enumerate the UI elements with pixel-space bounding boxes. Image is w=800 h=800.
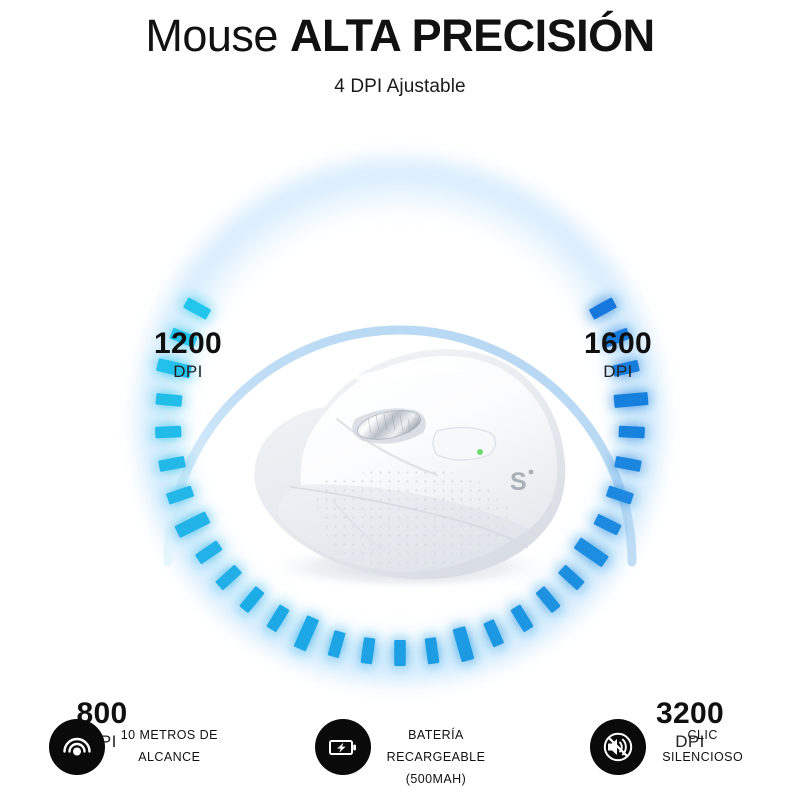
feature-range: 10 METROS DE ALCANCE	[0, 705, 267, 775]
dial-tick	[535, 586, 560, 613]
dial-tick	[425, 637, 440, 664]
page-title: Mouse ALTA PRECISIÓN	[0, 8, 800, 64]
dpi-label-1200: 1200 DPI	[118, 328, 258, 382]
page-header: Mouse ALTA PRECISIÓN 4 DPI Ajustable	[0, 0, 800, 98]
dial-tick	[239, 586, 264, 613]
dial-tick	[158, 456, 186, 472]
feature-line: RECARGEABLE	[387, 746, 486, 768]
wireless-signal-icon	[49, 719, 105, 775]
page-title-light: Mouse	[145, 10, 290, 61]
dial-tick	[510, 604, 533, 632]
dial-tick	[327, 630, 345, 658]
dpi-unit: DPI	[548, 362, 688, 382]
feature-line: SILENCIOSO	[662, 746, 743, 768]
feature-range-label: 10 METROS DE ALCANCE	[121, 719, 218, 768]
mute-speaker-icon	[590, 719, 646, 775]
dial-tick	[618, 426, 645, 439]
dial-tick	[360, 637, 375, 664]
brand-logo: S	[510, 468, 527, 496]
feature-battery-label: BATERÍA RECARGEABLE (500MAH)	[387, 719, 486, 790]
dial-tick	[614, 456, 642, 472]
feature-line: ALCANCE	[121, 746, 218, 768]
dpi-dial: S 1200 DPI 1600 DPI 800 DPI 3200 DPI	[0, 130, 800, 670]
feature-line: CLIC	[662, 724, 743, 746]
page-title-bold: ALTA PRECISIÓN	[290, 10, 655, 61]
dial-tick	[266, 604, 289, 632]
dial-tick	[453, 626, 475, 662]
dial-tick	[294, 615, 320, 651]
dial-tick	[394, 640, 406, 666]
dial-tick	[155, 393, 182, 407]
feature-line: (500MAH)	[387, 768, 486, 790]
feature-battery: BATERÍA RECARGEABLE (500MAH)	[267, 705, 534, 790]
feature-line: 10 METROS DE	[121, 724, 218, 746]
dpi-unit: DPI	[118, 362, 258, 382]
feature-silent-click: CLIC SILENCIOSO	[533, 705, 800, 775]
mouse-product-image: S	[205, 315, 595, 590]
dial-tick	[483, 619, 504, 647]
dial-tick	[155, 426, 182, 439]
feature-line: BATERÍA	[387, 724, 486, 746]
feature-silent-label: CLIC SILENCIOSO	[662, 719, 743, 768]
battery-charging-icon	[315, 719, 371, 775]
page-subtitle: 4 DPI Ajustable	[0, 76, 800, 98]
dial-tick	[614, 392, 649, 408]
dpi-value: 1600	[548, 328, 688, 360]
dial-tick	[593, 514, 621, 536]
dpi-value: 1200	[118, 328, 258, 360]
dpi-label-1600: 1600 DPI	[548, 328, 688, 382]
feature-strip: 10 METROS DE ALCANCE BATERÍA RECARGEABLE…	[0, 705, 800, 800]
